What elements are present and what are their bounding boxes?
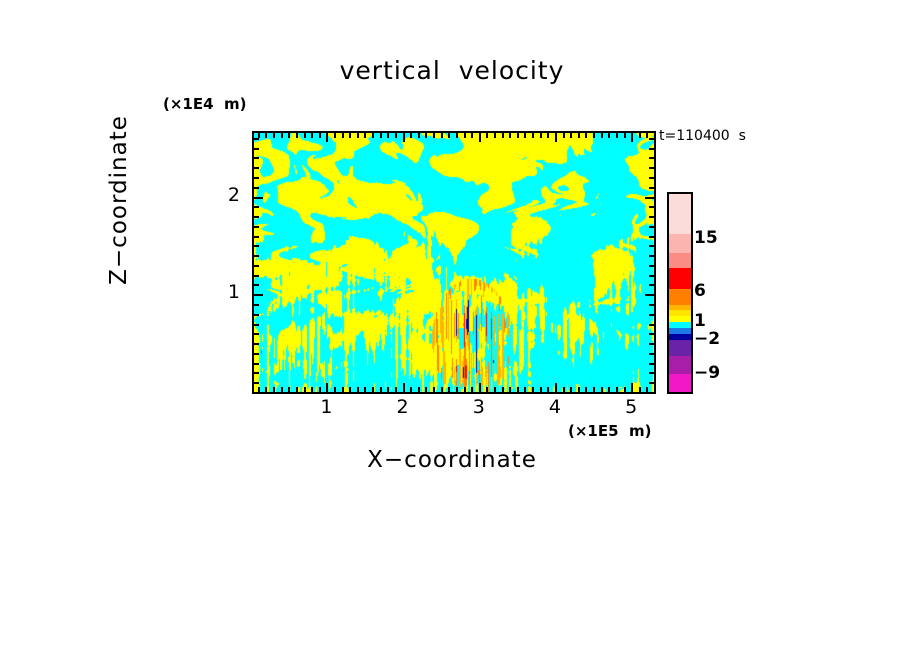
x-tick-label-0: 1 xyxy=(306,396,346,418)
x-tick-top xyxy=(593,133,595,138)
x-tick-top xyxy=(540,133,542,138)
y-tick-minor xyxy=(254,353,259,355)
y-tick-right xyxy=(649,275,654,277)
colorbar-band-13 xyxy=(669,374,691,392)
x-tick-minor xyxy=(616,387,618,392)
x-tick-top xyxy=(563,133,565,138)
x-tick-top xyxy=(479,133,481,142)
x-tick-minor xyxy=(342,387,344,392)
x-tick-minor xyxy=(494,387,496,392)
x-tick-top xyxy=(524,133,526,138)
y-tick-right xyxy=(649,324,654,326)
x-tick-minor xyxy=(380,387,382,392)
y-tick-right xyxy=(649,187,654,189)
y-tick-right xyxy=(649,138,654,140)
x-tick-minor xyxy=(372,387,374,392)
x-tick-label-2: 3 xyxy=(459,396,499,418)
x-tick-top xyxy=(395,133,397,138)
x-tick-minor xyxy=(334,387,336,392)
y-tick-minor xyxy=(254,226,259,228)
y-tick-right xyxy=(649,343,654,345)
x-tick-minor xyxy=(425,387,427,392)
x-tick-minor xyxy=(319,387,321,392)
x-tick-minor xyxy=(288,387,290,392)
x-tick-minor xyxy=(578,387,580,392)
x-tick-minor xyxy=(570,387,572,392)
x-tick-label-4: 5 xyxy=(611,396,651,418)
x-tick-minor xyxy=(624,387,626,392)
colorbar-label-1: 6 xyxy=(694,281,706,301)
x-tick-minor xyxy=(593,387,595,392)
x-tick-top xyxy=(288,133,290,138)
y-tick-right xyxy=(649,157,654,159)
x-tick-minor xyxy=(502,387,504,392)
x-tick-top xyxy=(547,133,549,138)
x-tick-minor xyxy=(456,387,458,392)
x-tick-minor xyxy=(387,387,389,392)
y-tick-right xyxy=(645,294,654,296)
x-tick-top xyxy=(448,133,450,138)
x-tick-minor xyxy=(349,387,351,392)
y-tick-right xyxy=(645,197,654,199)
colorbar-label-2: 1 xyxy=(694,311,706,331)
x-tick-minor xyxy=(464,387,466,392)
y-tick-minor xyxy=(254,138,259,140)
x-tick-minor xyxy=(471,387,473,392)
x-tick-top xyxy=(342,133,344,138)
x-tick-top xyxy=(601,133,603,138)
x-tick-minor xyxy=(524,387,526,392)
y-tick-minor xyxy=(254,382,259,384)
x-tick-top xyxy=(418,133,420,138)
x-tick-minor xyxy=(540,387,542,392)
x-tick-top xyxy=(654,133,656,138)
x-tick-top xyxy=(311,133,313,138)
x-tick-minor xyxy=(326,383,328,392)
y-tick-minor xyxy=(254,284,259,286)
x-tick-top xyxy=(631,133,633,142)
x-tick-top xyxy=(570,133,572,138)
y-tick-minor xyxy=(254,314,259,316)
x-tick-top xyxy=(425,133,427,138)
y-tick-right xyxy=(649,304,654,306)
y-tick-minor xyxy=(254,206,259,208)
x-tick-minor xyxy=(364,387,366,392)
colorbar-band-2 xyxy=(669,253,691,268)
x-tick-top xyxy=(486,133,488,138)
y-tick-minor xyxy=(254,216,259,218)
y-tick-right xyxy=(649,177,654,179)
x-tick-minor xyxy=(509,387,511,392)
x-tick-top xyxy=(624,133,626,138)
x-tick-minor xyxy=(304,387,306,392)
y-tick-minor xyxy=(254,236,259,238)
y-tick-minor xyxy=(254,157,259,159)
y-tick-right xyxy=(649,245,654,247)
x-tick-top xyxy=(281,133,283,138)
x-tick-minor xyxy=(563,387,565,392)
x-tick-top xyxy=(639,133,641,138)
y-tick-minor xyxy=(254,177,259,179)
y-tick-minor xyxy=(254,265,259,267)
y-tick-right xyxy=(649,216,654,218)
colorbar xyxy=(667,192,693,394)
y-axis-title: Z−coordinate xyxy=(106,90,132,310)
x-tick-top xyxy=(555,133,557,142)
x-tick-top xyxy=(509,133,511,138)
colorbar-label-0: 15 xyxy=(694,228,718,248)
y-tick-minor xyxy=(254,372,259,374)
figure-canvas: vertical velocity (×1E4 m) t=110400 s Z−… xyxy=(0,0,904,654)
x-tick-minor xyxy=(555,383,557,392)
colorbar-band-1 xyxy=(669,234,691,253)
x-tick-top xyxy=(517,133,519,138)
x-tick-minor xyxy=(395,387,397,392)
y-tick-right xyxy=(649,265,654,267)
contour-plot-area xyxy=(252,131,656,394)
x-tick-top xyxy=(349,133,351,138)
x-tick-minor xyxy=(265,387,267,392)
y-tick-right xyxy=(649,236,654,238)
x-axis-unit-label: (×1E5 m) xyxy=(568,422,651,440)
x-tick-minor xyxy=(631,383,633,392)
colorbar-label-4: −9 xyxy=(694,363,720,383)
colorbar-band-4 xyxy=(669,289,691,306)
x-tick-minor xyxy=(311,387,313,392)
y-tick-right xyxy=(649,333,654,335)
x-tick-top xyxy=(585,133,587,138)
y-tick-right xyxy=(649,382,654,384)
x-tick-minor xyxy=(403,383,405,392)
x-tick-top xyxy=(456,133,458,138)
x-tick-top xyxy=(273,133,275,138)
y-tick-label-1: 2 xyxy=(210,184,240,206)
x-tick-minor xyxy=(517,387,519,392)
y-tick-right xyxy=(649,255,654,257)
x-tick-label-1: 2 xyxy=(383,396,423,418)
x-tick-minor xyxy=(441,387,443,392)
x-tick-minor xyxy=(281,387,283,392)
x-tick-top xyxy=(319,133,321,138)
x-tick-minor xyxy=(532,387,534,392)
y-tick-minor xyxy=(254,167,259,169)
x-tick-minor xyxy=(601,387,603,392)
x-tick-minor xyxy=(357,387,359,392)
y-tick-minor xyxy=(254,304,259,306)
colorbar-band-0 xyxy=(669,194,691,234)
y-tick-right xyxy=(649,353,654,355)
y-tick-right xyxy=(649,206,654,208)
x-tick-minor xyxy=(410,387,412,392)
x-tick-minor xyxy=(258,387,260,392)
y-tick-right xyxy=(649,372,654,374)
x-tick-top xyxy=(471,133,473,138)
x-tick-minor xyxy=(433,387,435,392)
x-tick-label-3: 4 xyxy=(535,396,575,418)
y-tick-minor xyxy=(254,275,259,277)
x-tick-top xyxy=(433,133,435,138)
x-tick-top xyxy=(441,133,443,138)
colorbar-band-12 xyxy=(669,356,691,373)
x-tick-top xyxy=(608,133,610,138)
x-tick-top xyxy=(334,133,336,138)
y-tick-right xyxy=(649,314,654,316)
x-tick-top xyxy=(494,133,496,138)
colorbar-band-11 xyxy=(669,340,691,357)
x-tick-top xyxy=(296,133,298,138)
y-tick-right xyxy=(649,167,654,169)
y-tick-minor xyxy=(254,363,259,365)
y-tick-right xyxy=(649,363,654,365)
y-tick-minor xyxy=(254,245,259,247)
x-tick-top xyxy=(464,133,466,138)
y-tick-right xyxy=(649,284,654,286)
x-tick-top xyxy=(372,133,374,138)
y-tick-minor xyxy=(254,197,263,199)
y-tick-label-0: 1 xyxy=(210,281,240,303)
x-tick-minor xyxy=(639,387,641,392)
y-tick-minor xyxy=(254,294,263,296)
x-tick-minor xyxy=(296,387,298,392)
x-tick-top xyxy=(410,133,412,138)
x-tick-top xyxy=(380,133,382,138)
x-tick-minor xyxy=(448,387,450,392)
y-tick-right xyxy=(649,226,654,228)
y-tick-minor xyxy=(254,333,259,335)
y-tick-right xyxy=(649,148,654,150)
x-tick-top xyxy=(387,133,389,138)
x-tick-top xyxy=(326,133,328,142)
x-axis-title: X−coordinate xyxy=(0,447,904,473)
y-tick-minor xyxy=(254,148,259,150)
x-tick-top xyxy=(616,133,618,138)
x-tick-top xyxy=(357,133,359,138)
x-tick-minor xyxy=(479,383,481,392)
x-tick-minor xyxy=(608,387,610,392)
y-tick-minor xyxy=(254,324,259,326)
colorbar-label-3: −2 xyxy=(694,329,720,349)
timestamp-annotation: t=110400 s xyxy=(659,128,746,144)
colorbar-band-3 xyxy=(669,268,691,289)
x-tick-minor xyxy=(654,387,656,392)
x-tick-top xyxy=(502,133,504,138)
x-tick-top xyxy=(364,133,366,138)
x-tick-top xyxy=(646,133,648,138)
x-tick-minor xyxy=(486,387,488,392)
y-axis-unit-label: (×1E4 m) xyxy=(163,95,246,113)
x-tick-minor xyxy=(547,387,549,392)
x-tick-minor xyxy=(273,387,275,392)
page-title: vertical velocity xyxy=(0,56,904,85)
x-tick-top xyxy=(578,133,580,138)
y-tick-minor xyxy=(254,255,259,257)
x-tick-minor xyxy=(585,387,587,392)
x-tick-top xyxy=(304,133,306,138)
y-tick-minor xyxy=(254,343,259,345)
x-tick-top xyxy=(403,133,405,142)
x-tick-minor xyxy=(418,387,420,392)
contour-field xyxy=(254,133,654,392)
y-tick-minor xyxy=(254,187,259,189)
x-tick-top xyxy=(532,133,534,138)
x-tick-minor xyxy=(646,387,648,392)
x-tick-top xyxy=(265,133,267,138)
